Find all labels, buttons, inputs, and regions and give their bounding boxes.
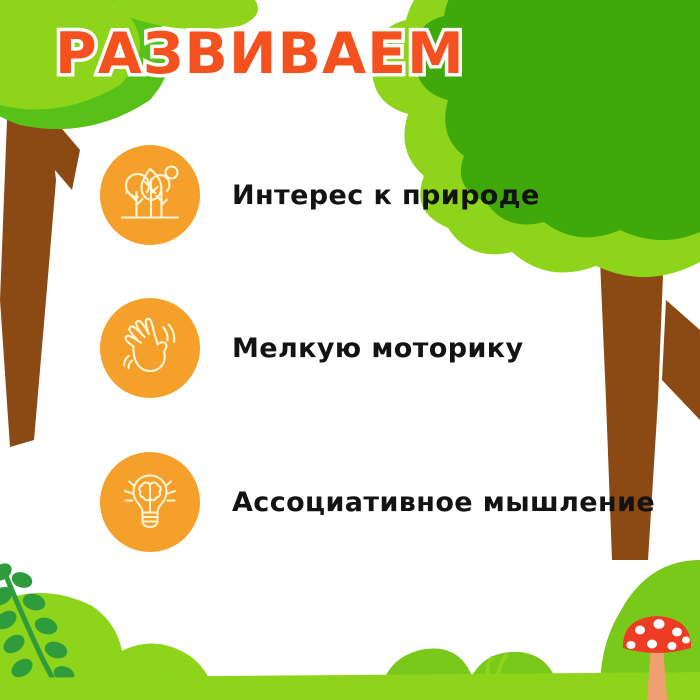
feature-label: Мелкую моторику [232,333,524,364]
feature-row-fine-motor[interactable]: Мелкую моторику [100,298,524,398]
lightbulb-brain-glyph [117,469,183,535]
forest-trees-icon[interactable] [100,145,200,245]
feature-row-nature-interest[interactable]: Интерес к природе [100,145,540,245]
content-layer: РАЗВИВАЕМ [0,0,700,700]
lightbulb-brain-icon[interactable] [100,452,200,552]
feature-row-associative-thinking[interactable]: Ассоциативное мышление [100,452,655,552]
feature-label: Ассоциативное мышление [232,487,655,518]
waving-hand-icon[interactable] [100,298,200,398]
feature-label: Интерес к природе [232,180,540,211]
poster-canvas: РАЗВИВАЕМ [0,0,700,700]
forest-trees-glyph [116,161,184,229]
waving-hand-glyph [117,315,183,381]
page-title: РАЗВИВАЕМ [55,26,465,83]
